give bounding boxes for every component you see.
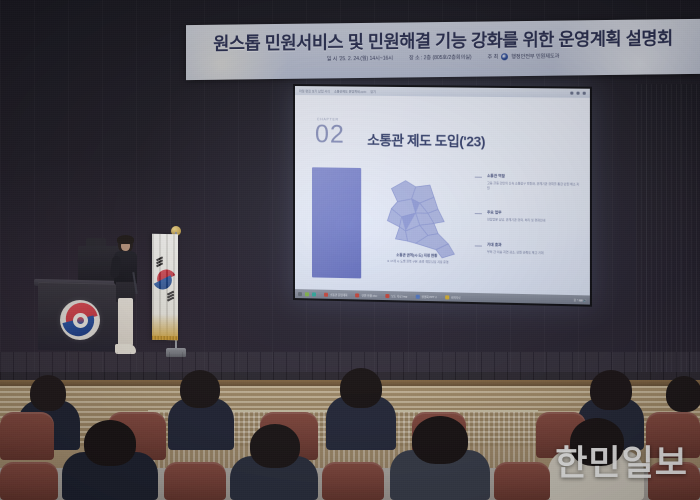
list-item: 기대 효과 부처 간 이송 지연 감소, 민원 만족도 제고 기대 (475, 242, 582, 256)
audience-head (84, 420, 136, 466)
spreadsheet-file-icon[interactable] (356, 293, 360, 297)
presenter-legs (118, 298, 133, 346)
audience-head (666, 376, 700, 412)
bullet-heading: 소통관 역할 (487, 174, 582, 180)
slide-chapter-number: 02 (315, 122, 345, 147)
taskbar-item[interactable]: 보도 자료.hwp (385, 294, 407, 299)
presentation-file-icon[interactable] (324, 292, 328, 296)
app-chrome-actions[interactable] (570, 92, 586, 95)
banner-host-label: 주 최 (488, 53, 499, 60)
taskbar-item-label[interactable]: 민원 현황.xlsx (362, 293, 378, 297)
taskbar-item-label[interactable]: 설명회 PPT 2 (421, 294, 436, 298)
event-banner: 원스톱 민원서비스 및 민원해결 기능 강화를 위한 운영계획 설명회 일 시 … (186, 19, 700, 80)
taeguk-emblem-icon (501, 53, 508, 60)
korean-government-taeguk-emblem-icon (60, 300, 100, 340)
audience-head (250, 424, 300, 468)
taskbar-item-label[interactable]: 소통관 운영계획 (330, 292, 348, 296)
flag-fringe (152, 336, 178, 341)
folder-icon[interactable] (445, 295, 449, 299)
list-item: 주요 업무 현장방문 상담, 관계기관 협의, 처리 및 결과안내 (475, 210, 582, 223)
auditorium-seat (0, 462, 58, 500)
projected-slide: 파일 편집 보기 삽입 서식 소통관제도 운영계획.pptx 닫기 CHAPTE… (295, 86, 590, 305)
banner-datetime: 일 시 '25. 2. 24.(월) 14시~16시 (327, 55, 393, 63)
taskbar-item[interactable]: 민원 현황.xlsx (356, 293, 378, 297)
auditorium-seat (322, 462, 384, 500)
audience-head (340, 368, 382, 408)
app-tab-text[interactable]: 소통관제도 운영계획.pptx (334, 89, 366, 93)
bullet-body: 고충·갈등 현안의 신속 소통창구 일원화, 관계기관 협력을 통한 민원 해소… (487, 181, 582, 192)
publisher-watermark: 한민일보 (555, 435, 688, 486)
comment-icon[interactable] (576, 92, 579, 95)
korean-national-flag-taegukgi (152, 234, 178, 341)
system-tray[interactable]: 한 ^ ⌨ 🔊 (574, 298, 587, 302)
app-tab-close[interactable]: 닫기 (370, 89, 376, 93)
auditorium-seat (164, 462, 226, 500)
projection-screen: 파일 편집 보기 삽입 서식 소통관제도 운영계획.pptx 닫기 CHAPTE… (293, 84, 592, 307)
slide-canvas: CHAPTER 02 소통관 제도 도입('23) (295, 95, 590, 295)
audience-head (590, 370, 632, 410)
slides-file-icon[interactable] (415, 294, 419, 298)
slide-bullet-list: 소통관 역할 고충·갈등 현안의 신속 소통창구 일원화, 관계기관 협력을 통… (475, 174, 582, 276)
share-icon[interactable] (570, 92, 573, 95)
slide-title: 소통관 제도 도입('23) (367, 129, 485, 151)
list-item: 소통관 역할 고충·갈등 현안의 신속 소통창구 일원화, 관계기관 협력을 통… (475, 174, 582, 192)
right-wall-curtain (636, 84, 700, 372)
slide-accent-block (312, 167, 361, 278)
audience-head (412, 416, 468, 464)
bullet-body: 부처 간 이송 지연 감소, 민원 만족도 제고 기대 (487, 249, 582, 255)
present-icon[interactable] (583, 92, 586, 95)
auditorium-seat (494, 462, 550, 500)
presenter-hair (117, 235, 134, 244)
bullet-dash-icon (475, 213, 482, 214)
presenter-figure (108, 236, 142, 356)
audience-head (30, 375, 66, 411)
bullet-heading: 기대 효과 (487, 242, 582, 249)
auditorium-seat (0, 412, 54, 460)
app-menu-text[interactable]: 파일 편집 보기 삽입 서식 (299, 89, 330, 93)
bullet-dash-icon (475, 245, 482, 246)
taskbar-item-label[interactable]: 회의자료 (451, 295, 461, 299)
taskbar-item[interactable]: 회의자료 (445, 295, 461, 299)
bullet-body: 현장방문 상담, 관계기관 협의, 처리 및 결과안내 (487, 217, 582, 223)
document-file-icon[interactable] (385, 294, 389, 298)
banner-place: 장 소 : 2층 (805호/2층회의실) (409, 54, 472, 62)
banner-host-group: 주 최 행정안전부 민원제도과 (488, 53, 560, 61)
press-photo-scene: 원스톱 민원서비스 및 민원해결 기능 강화를 위한 운영계획 설명회 일 시 … (0, 0, 700, 500)
taskbar-item[interactable]: 설명회 PPT 2 (415, 294, 436, 299)
start-icon[interactable] (298, 292, 302, 296)
taskbar-item[interactable]: 소통관 운영계획 (324, 292, 348, 297)
bullet-heading: 주요 업무 (487, 210, 582, 217)
browser-icon[interactable] (312, 292, 316, 296)
bullet-dash-icon (475, 177, 482, 178)
audience-head (180, 370, 220, 408)
explorer-icon[interactable] (305, 292, 309, 296)
taskbar-item-label[interactable]: 보도 자료.hwp (391, 294, 407, 298)
banner-host: 행정안전부 민원제도과 (511, 53, 559, 61)
emblem-center-dot (77, 317, 84, 324)
